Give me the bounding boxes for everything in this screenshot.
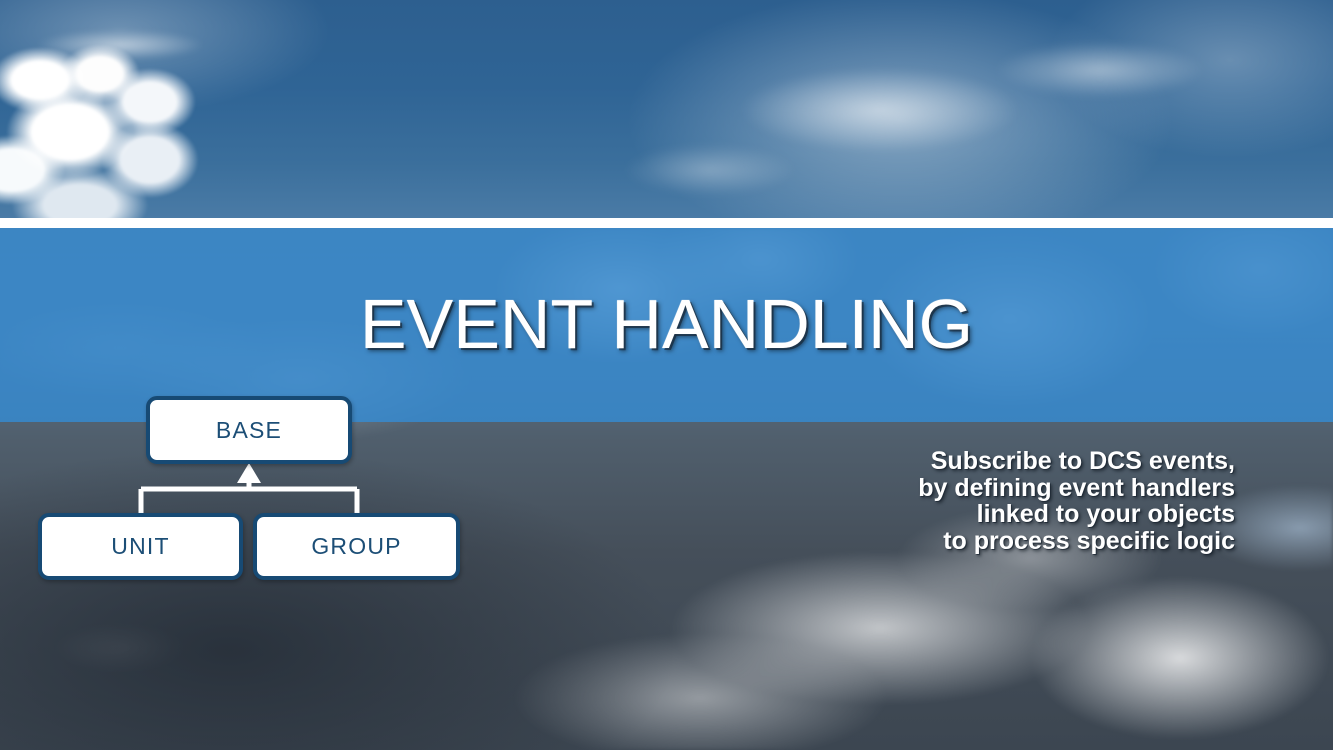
- class-node-base-label: BASE: [216, 417, 282, 444]
- class-node-unit[interactable]: UNIT: [38, 513, 243, 580]
- class-node-group[interactable]: GROUP: [253, 513, 460, 580]
- class-node-unit-label: UNIT: [111, 533, 169, 560]
- slide-canvas: EVENT HANDLING Subscribe to DCS events, …: [0, 0, 1333, 750]
- class-diagram: BASE UNIT GROUP: [0, 0, 1333, 750]
- inheritance-connectors: [0, 0, 1333, 750]
- class-node-group-label: GROUP: [311, 533, 401, 560]
- class-node-base[interactable]: BASE: [146, 396, 352, 464]
